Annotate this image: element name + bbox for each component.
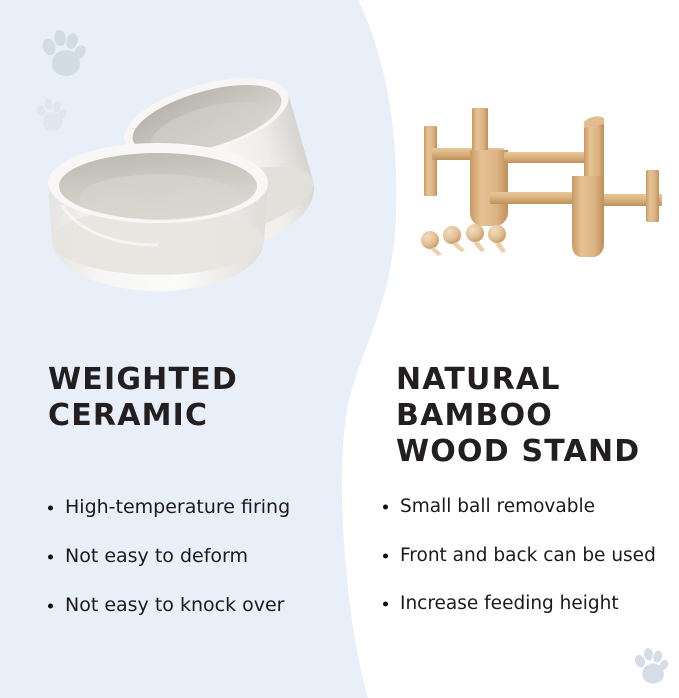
bamboo-wood-stand-photo (408, 108, 670, 268)
right-panel-heading-line-1: NATURAL BAMBOO (396, 362, 678, 434)
list-item-label: Front and back can be used (400, 545, 656, 566)
paw-print-bottom-right (630, 645, 670, 685)
list-item-label: Increase feeding height (400, 593, 619, 614)
two-ceramic-pet-bowls-photo (18, 55, 348, 300)
bullet-dot-icon (383, 602, 388, 607)
right-panel-feature-list: Small ball removable Front and back can … (383, 498, 656, 644)
list-item: Small ball removable (383, 498, 656, 517)
left-panel-heading: WEIGHTED CERAMIC (48, 362, 338, 434)
list-item-label: Small ball removable (400, 496, 595, 517)
bullet-dot-icon (48, 603, 53, 608)
list-item: Front and back can be used (383, 547, 656, 566)
right-panel-heading-line-2: WOOD STAND (396, 434, 678, 470)
bullet-dot-icon (48, 554, 53, 559)
list-item: Not easy to deform (48, 547, 290, 566)
right-panel-heading: NATURAL BAMBOO WOOD STAND (396, 362, 678, 470)
list-item: High-temperature firing (48, 498, 290, 517)
list-item: Increase feeding height (383, 595, 656, 614)
list-item-label: High-temperature firing (65, 496, 290, 518)
bullet-dot-icon (383, 505, 388, 510)
list-item-label: Not easy to knock over (65, 594, 284, 616)
left-panel-feature-list: High-temperature firing Not easy to defo… (48, 498, 290, 645)
bullet-dot-icon (48, 505, 53, 510)
bullet-dot-icon (383, 553, 388, 558)
list-item-label: Not easy to deform (65, 545, 248, 567)
list-item: Not easy to knock over (48, 596, 290, 615)
infographic-page: WEIGHTED CERAMIC High-temperature firing… (0, 0, 679, 698)
